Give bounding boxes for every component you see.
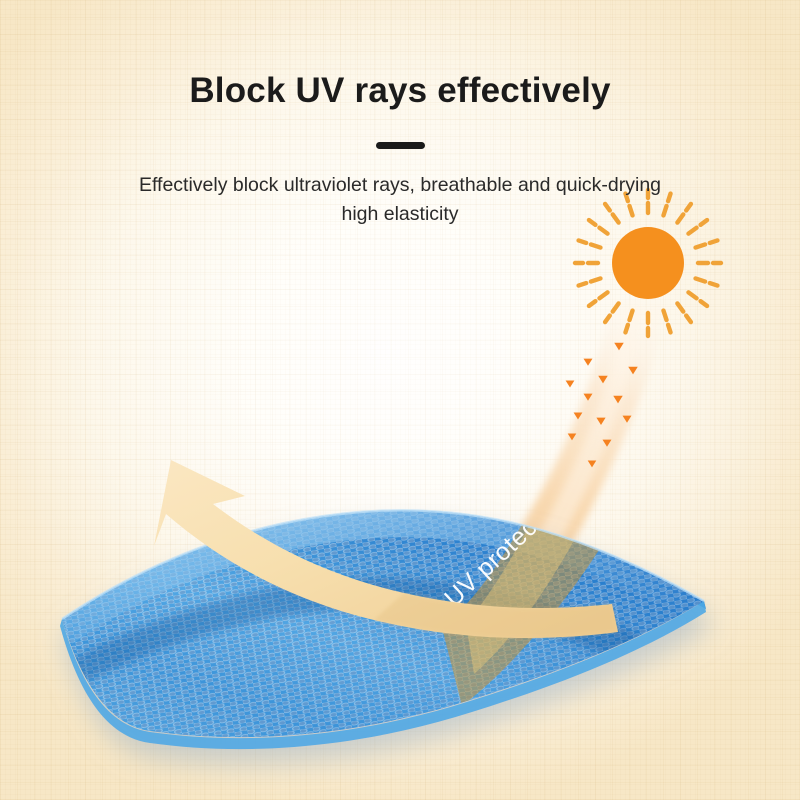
title-divider <box>376 142 425 149</box>
header: Block UV rays effectively Effectively bl… <box>0 0 800 228</box>
page-title: Block UV rays effectively <box>0 0 800 111</box>
sun-disc <box>612 227 684 299</box>
page-subtitle: Effectively block ultraviolet rays, brea… <box>130 171 670 228</box>
infographic-canvas: Block UV rays effectively Effectively bl… <box>0 0 800 800</box>
